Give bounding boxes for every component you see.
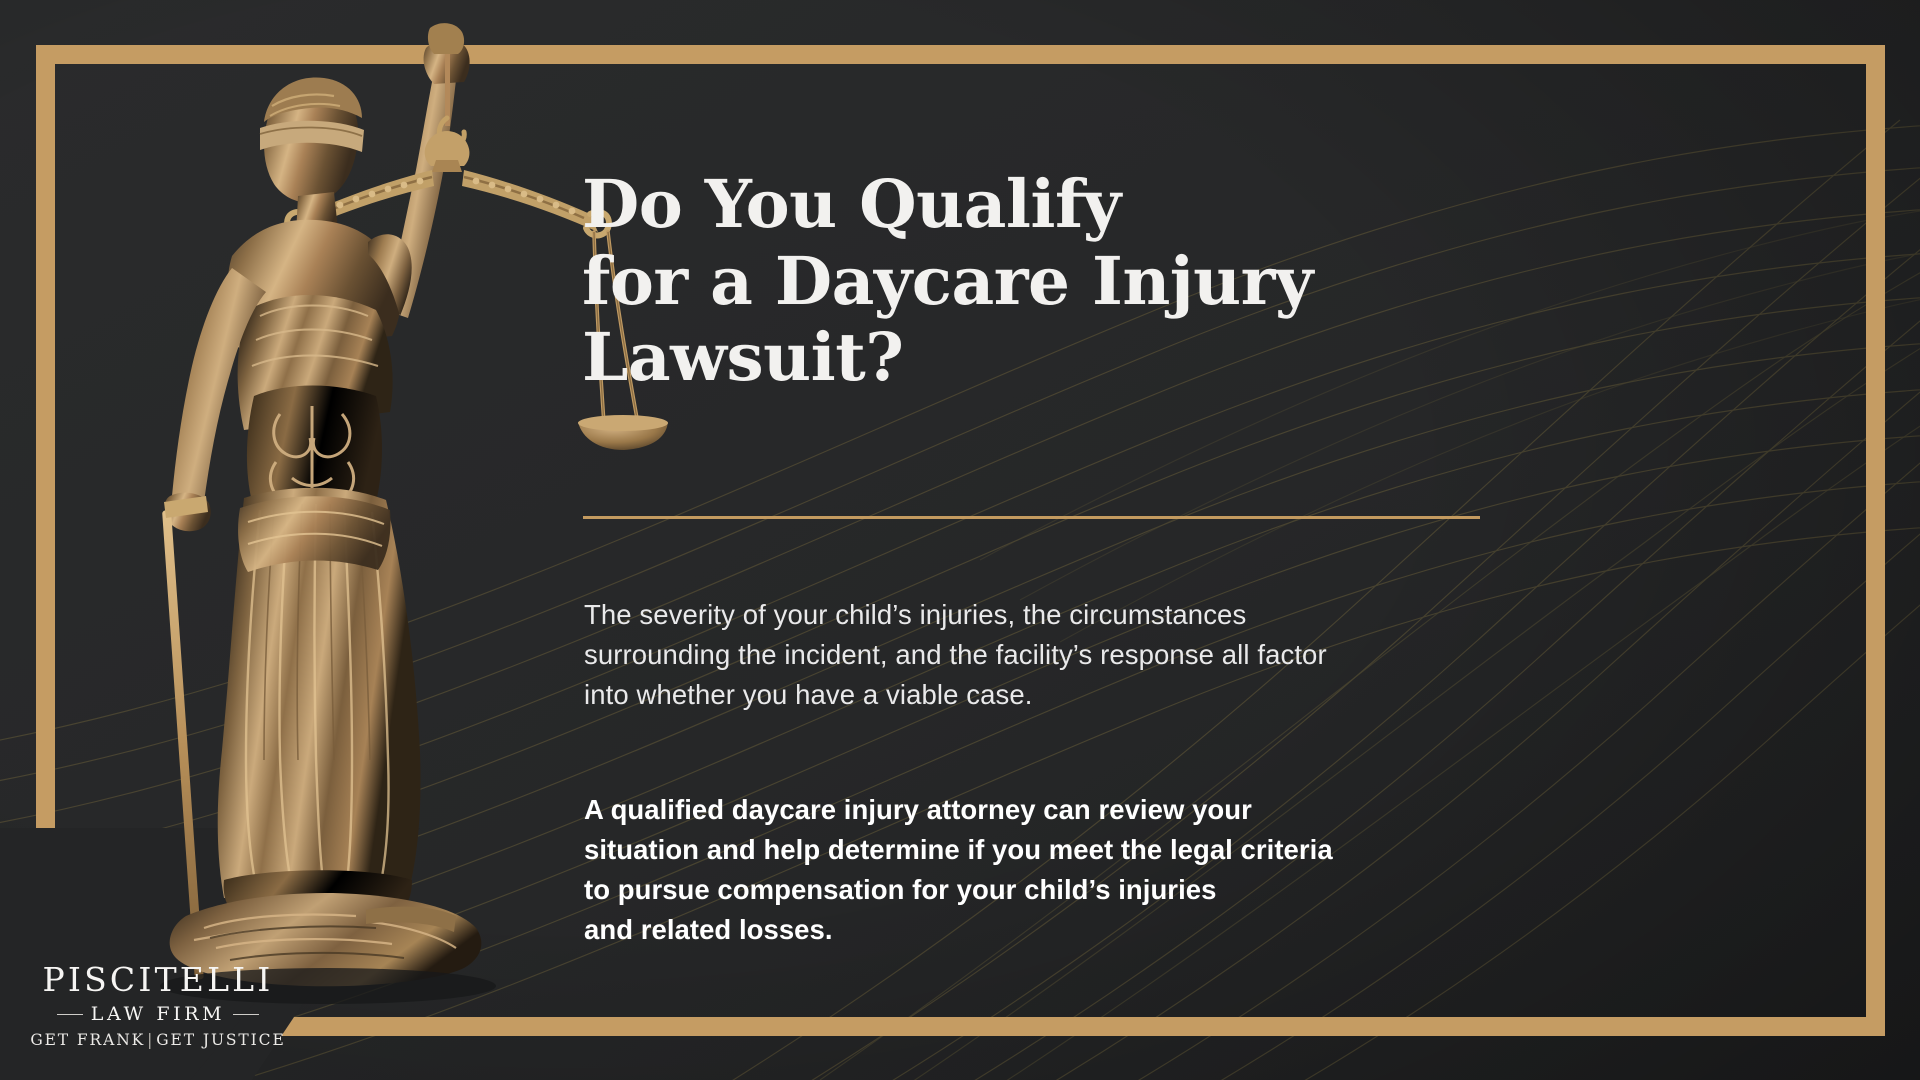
headline-line-1: Do You Qualify — [582, 166, 1512, 243]
logo-tagline-right: GET JUSTICE — [156, 1031, 285, 1049]
logo-firm-type: LAW FIRM — [91, 1005, 225, 1024]
lead-line-3: into whether you have a viable case. — [584, 675, 1474, 715]
lead-line-2: surrounding the incident, and the facili… — [584, 635, 1474, 675]
gold-divider-rule — [583, 516, 1480, 519]
headline-line-3: Lawsuit? — [582, 319, 1512, 396]
emphasis-line-1: A qualified daycare injury attorney can … — [584, 790, 1474, 830]
logo-tagline-left: GET FRANK — [30, 1031, 145, 1049]
logo-tagline-separator: | — [145, 1031, 156, 1049]
lead-paragraph: The severity of your child’s injuries, t… — [584, 595, 1474, 715]
law-firm-logo: PISCITELLI LAW FIRM GET FRANK|GET JUSTIC… — [27, 963, 289, 1049]
lead-line-1: The severity of your child’s injuries, t… — [584, 595, 1474, 635]
promotional-graphic-canvas: Do You Qualify for a Daycare Injury Laws… — [0, 0, 1920, 1080]
page-title: Do You Qualify for a Daycare Injury Laws… — [582, 166, 1512, 396]
headline-line-2: for a Daycare Injury — [582, 243, 1512, 320]
logo-firm-name: PISCITELLI — [27, 963, 289, 996]
emphasis-line-3: to pursue compensation for your child’s … — [584, 870, 1474, 910]
content-column: Do You Qualify for a Daycare Injury Laws… — [582, 0, 1487, 1080]
logo-firm-type-row: LAW FIRM — [27, 1005, 289, 1024]
emphasis-paragraph: A qualified daycare injury attorney can … — [584, 790, 1474, 951]
emphasis-line-4: and related losses. — [584, 910, 1474, 950]
emphasis-line-2: situation and help determine if you meet… — [584, 830, 1474, 870]
logo-rule-right — [233, 1014, 259, 1015]
logo-tagline: GET FRANK|GET JUSTICE — [27, 1033, 289, 1049]
logo-rule-left — [57, 1014, 83, 1015]
